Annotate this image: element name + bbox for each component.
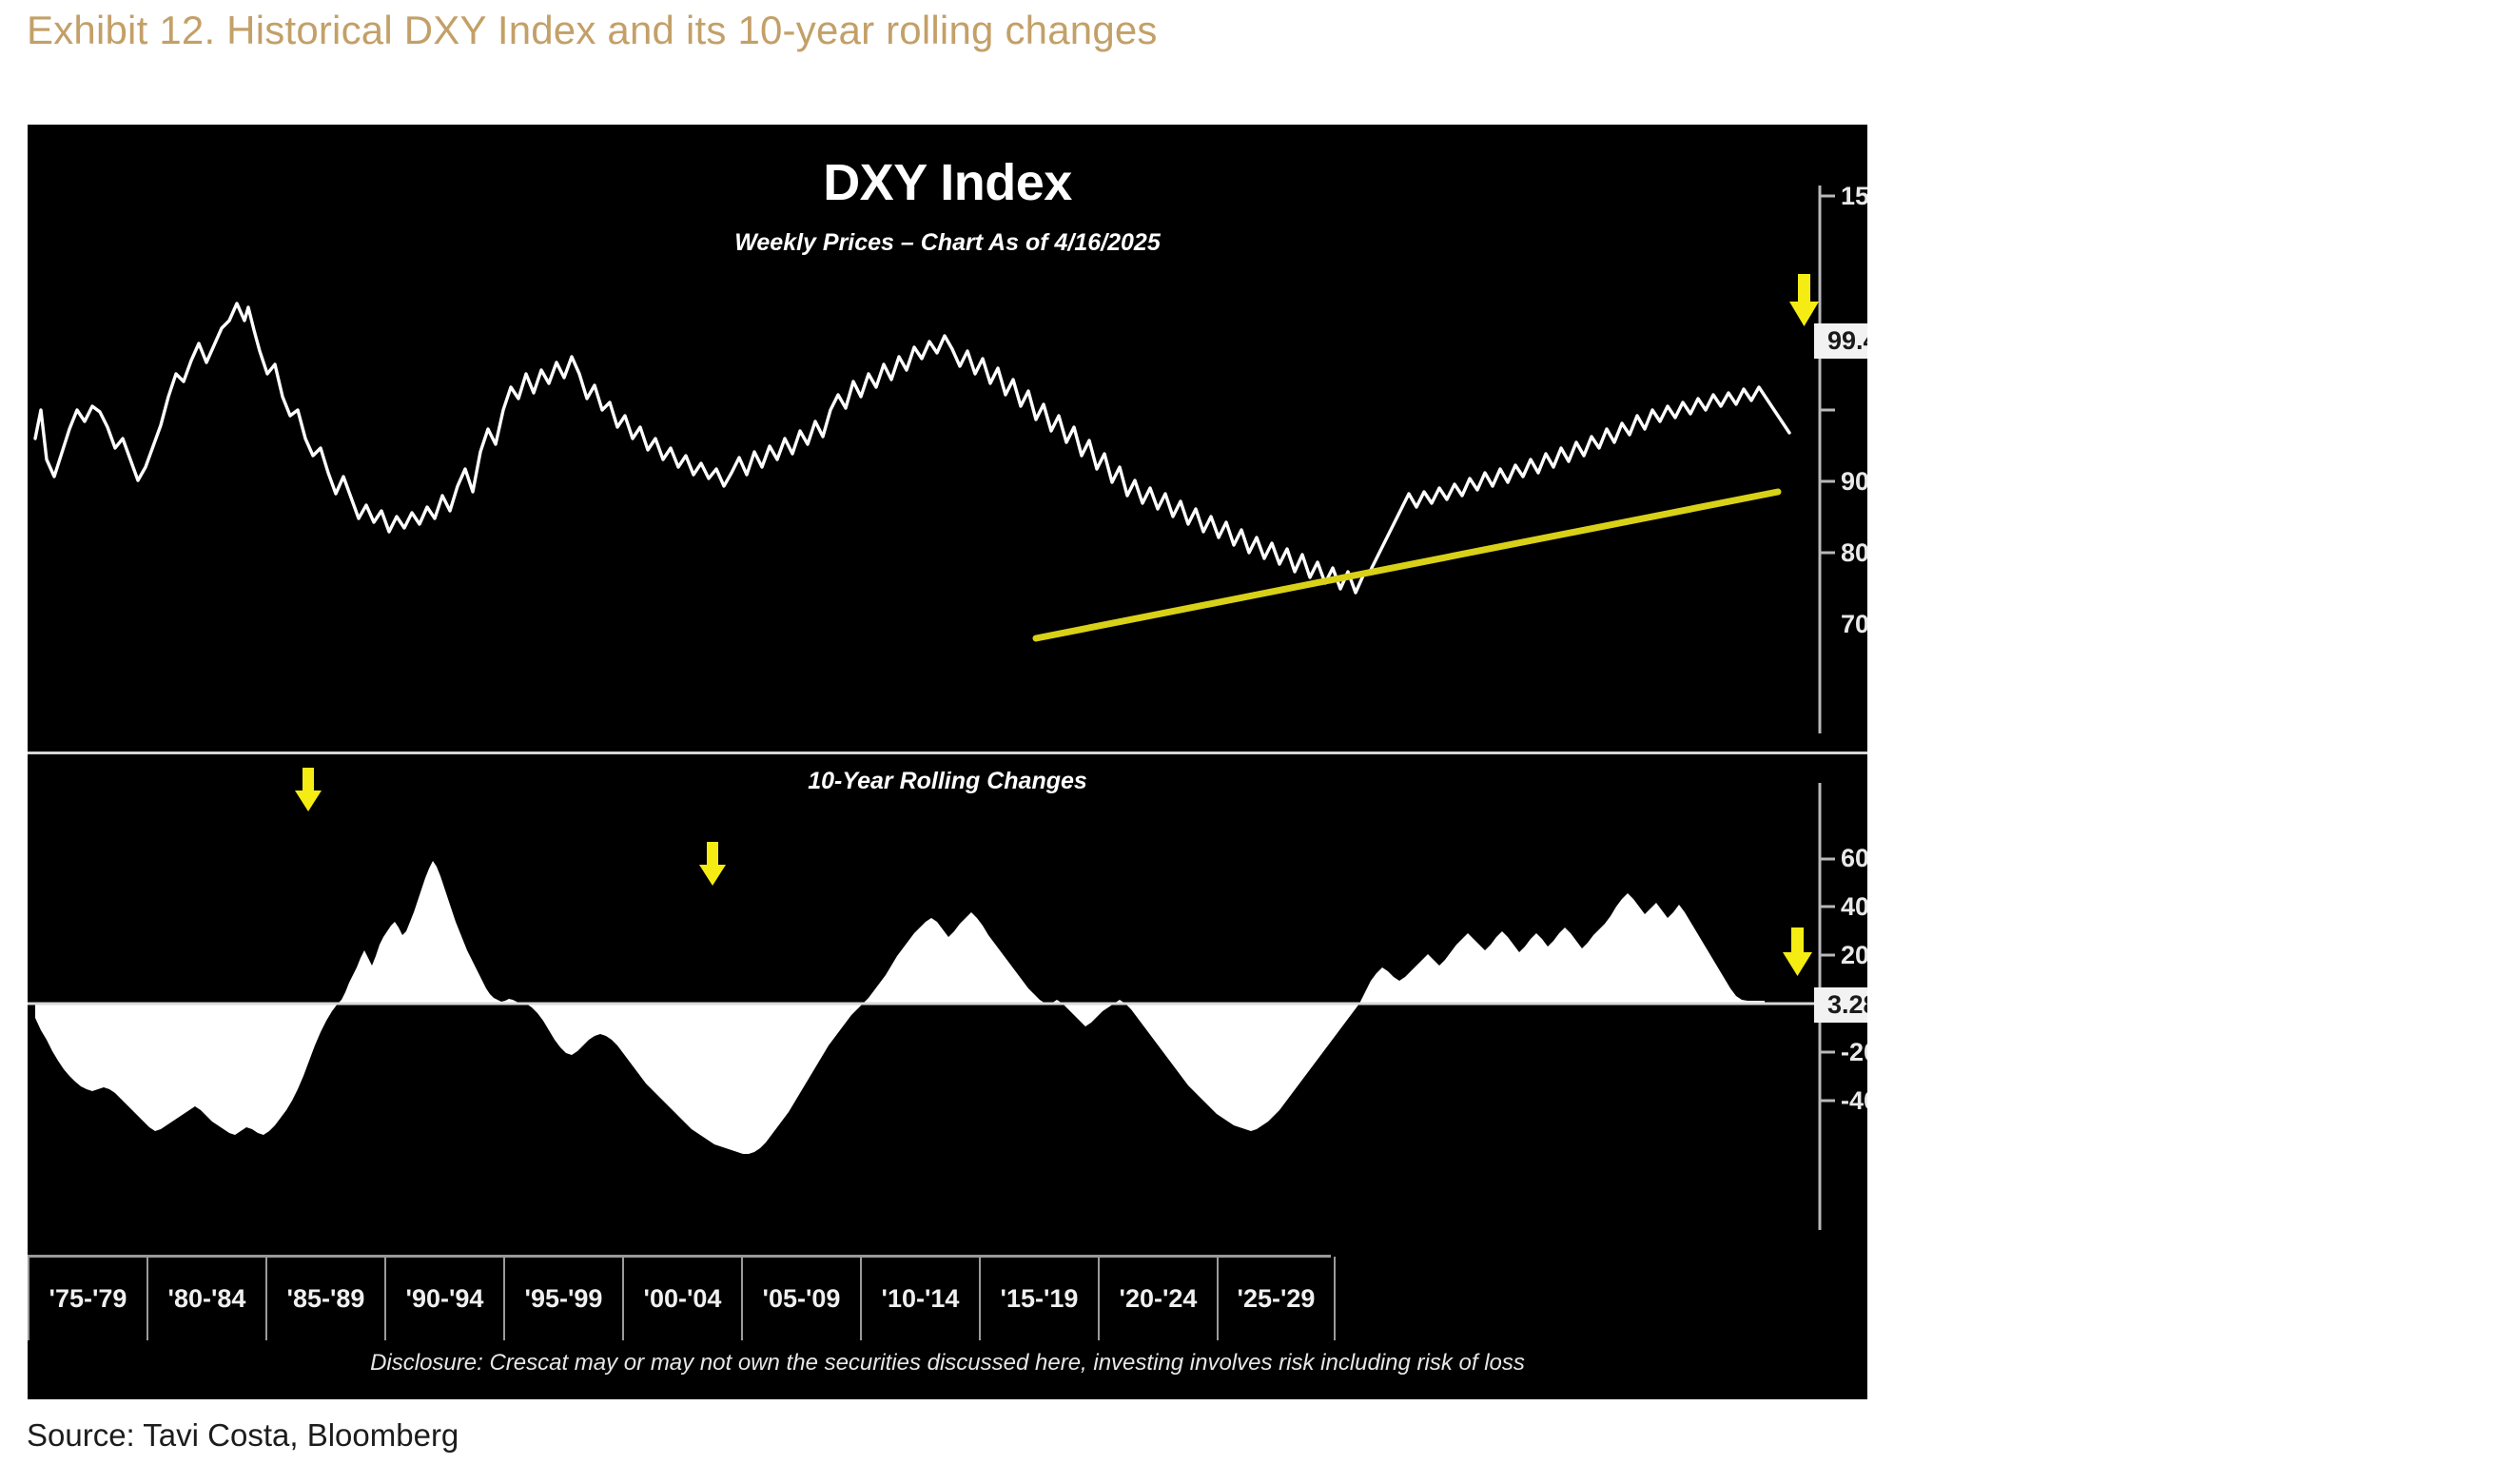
changes-y-tick-neg20: -20 (1841, 1038, 1867, 1067)
x-tick-0: '75-'79 (28, 1257, 146, 1340)
x-tick-10: '25-'29 (1217, 1257, 1336, 1340)
price-series-plot (28, 125, 1867, 752)
changes-axis-ticks (1820, 859, 1835, 1101)
x-tick-8: '15-'19 (979, 1257, 1098, 1340)
price-y-tick-80: 80 (1841, 538, 1867, 568)
changes-y-tick-neg40: -40 (1841, 1086, 1867, 1116)
changes-y-tick-40: 40 (1841, 892, 1867, 922)
changes-value-badge: 3.28 (1814, 987, 1867, 1023)
page-title: Exhibit 12. Historical DXY Index and its… (27, 8, 1158, 53)
price-panel-subtitle: Weekly Prices – Chart As of 4/16/2025 (28, 229, 1867, 257)
x-tick-3: '90-'94 (384, 1257, 503, 1340)
down-arrow-icon-price (1789, 274, 1819, 326)
price-value-badge: 99.410 (1814, 323, 1867, 359)
x-tick-7: '10-'14 (860, 1257, 979, 1340)
down-arrow-icon-2002 (699, 842, 726, 886)
changes-y-tick-60: 60 (1841, 844, 1867, 873)
disclosure-text: Disclosure: Crescat may or may not own t… (28, 1350, 1867, 1377)
dxy-price-panel: DXY Index Weekly Prices – Chart As of 4/… (28, 125, 1867, 752)
x-tick-5: '00-'04 (622, 1257, 741, 1340)
support-trendline (1036, 492, 1778, 638)
rolling-changes-panel: 10-Year Rolling Changes (28, 754, 1867, 1257)
price-y-tick-90: 90 (1841, 467, 1867, 497)
x-axis-labels: '75-'79 '80-'84 '85-'89 '90-'94 '95-'99 … (28, 1257, 1867, 1340)
dxy-price-line (35, 303, 1789, 593)
source-caption: Source: Tavi Costa, Bloomberg (27, 1417, 459, 1454)
price-y-tick-70: 70 (1841, 610, 1867, 639)
x-tick-4: '95-'99 (503, 1257, 622, 1340)
x-tick-1: '80-'84 (146, 1257, 265, 1340)
chart-image: DXY Index Weekly Prices – Chart As of 4/… (28, 125, 1867, 1399)
x-tick-6: '05-'09 (741, 1257, 860, 1340)
changes-y-tick-20: 20 (1841, 941, 1867, 970)
rolling-changes-plot (28, 754, 1867, 1257)
price-panel-title: DXY Index (28, 153, 1867, 212)
down-arrow-icon-2025 (1783, 927, 1812, 976)
x-tick-2: '85-'89 (265, 1257, 384, 1340)
changes-panel-title: 10-Year Rolling Changes (28, 768, 1867, 795)
rolling-changes-area (35, 861, 1765, 1154)
price-y-tick-150: 150 (1841, 182, 1867, 211)
x-tick-9: '20-'24 (1098, 1257, 1217, 1340)
